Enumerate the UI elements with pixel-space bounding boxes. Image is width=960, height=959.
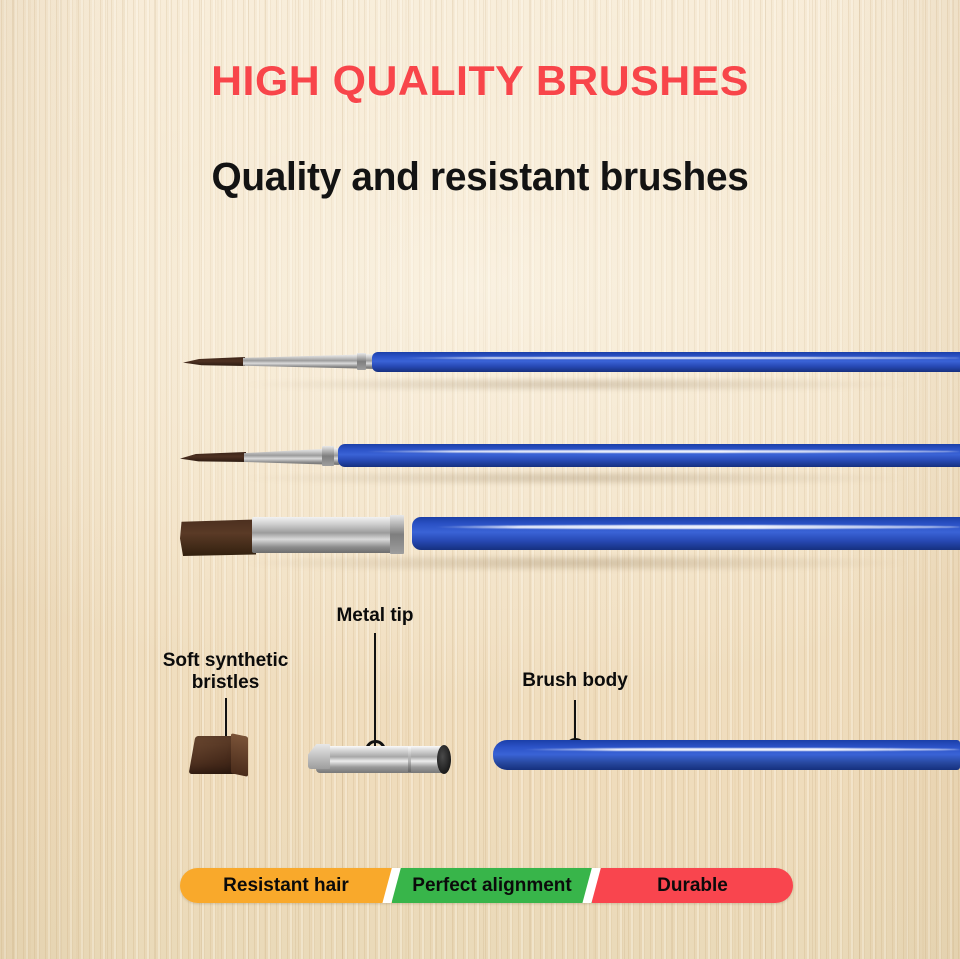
brush-shadow bbox=[176, 556, 960, 570]
callout-label-bristles: Soft synthetic bristles bbox=[133, 650, 318, 694]
brush-handle bbox=[372, 352, 960, 372]
brush-ferrule bbox=[252, 517, 400, 553]
brush-bristles bbox=[180, 518, 256, 556]
brush-handle bbox=[338, 444, 960, 467]
feature-segment-durable[interactable]: Durable bbox=[592, 868, 793, 903]
detail-part-handle bbox=[493, 740, 960, 770]
page-subtitle: Quality and resistant brushes bbox=[14, 155, 945, 200]
infographic-canvas: HIGH QUALITY BRUSHES Quality and resista… bbox=[0, 0, 960, 959]
feature-segment-resistant-hair[interactable]: Resistant hair bbox=[180, 868, 392, 903]
detail-part-bristles-face bbox=[231, 733, 248, 777]
page-title: HIGH QUALITY BRUSHES bbox=[0, 57, 960, 105]
callout-leader-metal-tip bbox=[374, 633, 376, 750]
detail-part-ferrule-opening bbox=[437, 745, 451, 774]
callout-label-brush-body: Brush body bbox=[485, 670, 665, 692]
features-banner: Resistant hair Perfect alignment Durable bbox=[180, 868, 793, 903]
feature-segment-perfect-alignment[interactable]: Perfect alignment bbox=[392, 868, 592, 903]
brush-handle bbox=[412, 517, 960, 550]
brush-ferrule-band bbox=[390, 515, 404, 554]
detail-part-ferrule bbox=[316, 746, 446, 773]
brush-ferrule-band bbox=[322, 446, 334, 466]
brush-ferrule-band bbox=[357, 353, 366, 370]
brush-shadow bbox=[176, 472, 960, 484]
brush-shadow bbox=[176, 379, 960, 390]
callout-label-metal-tip: Metal tip bbox=[285, 605, 465, 627]
detail-part-ferrule-seam bbox=[408, 747, 411, 772]
